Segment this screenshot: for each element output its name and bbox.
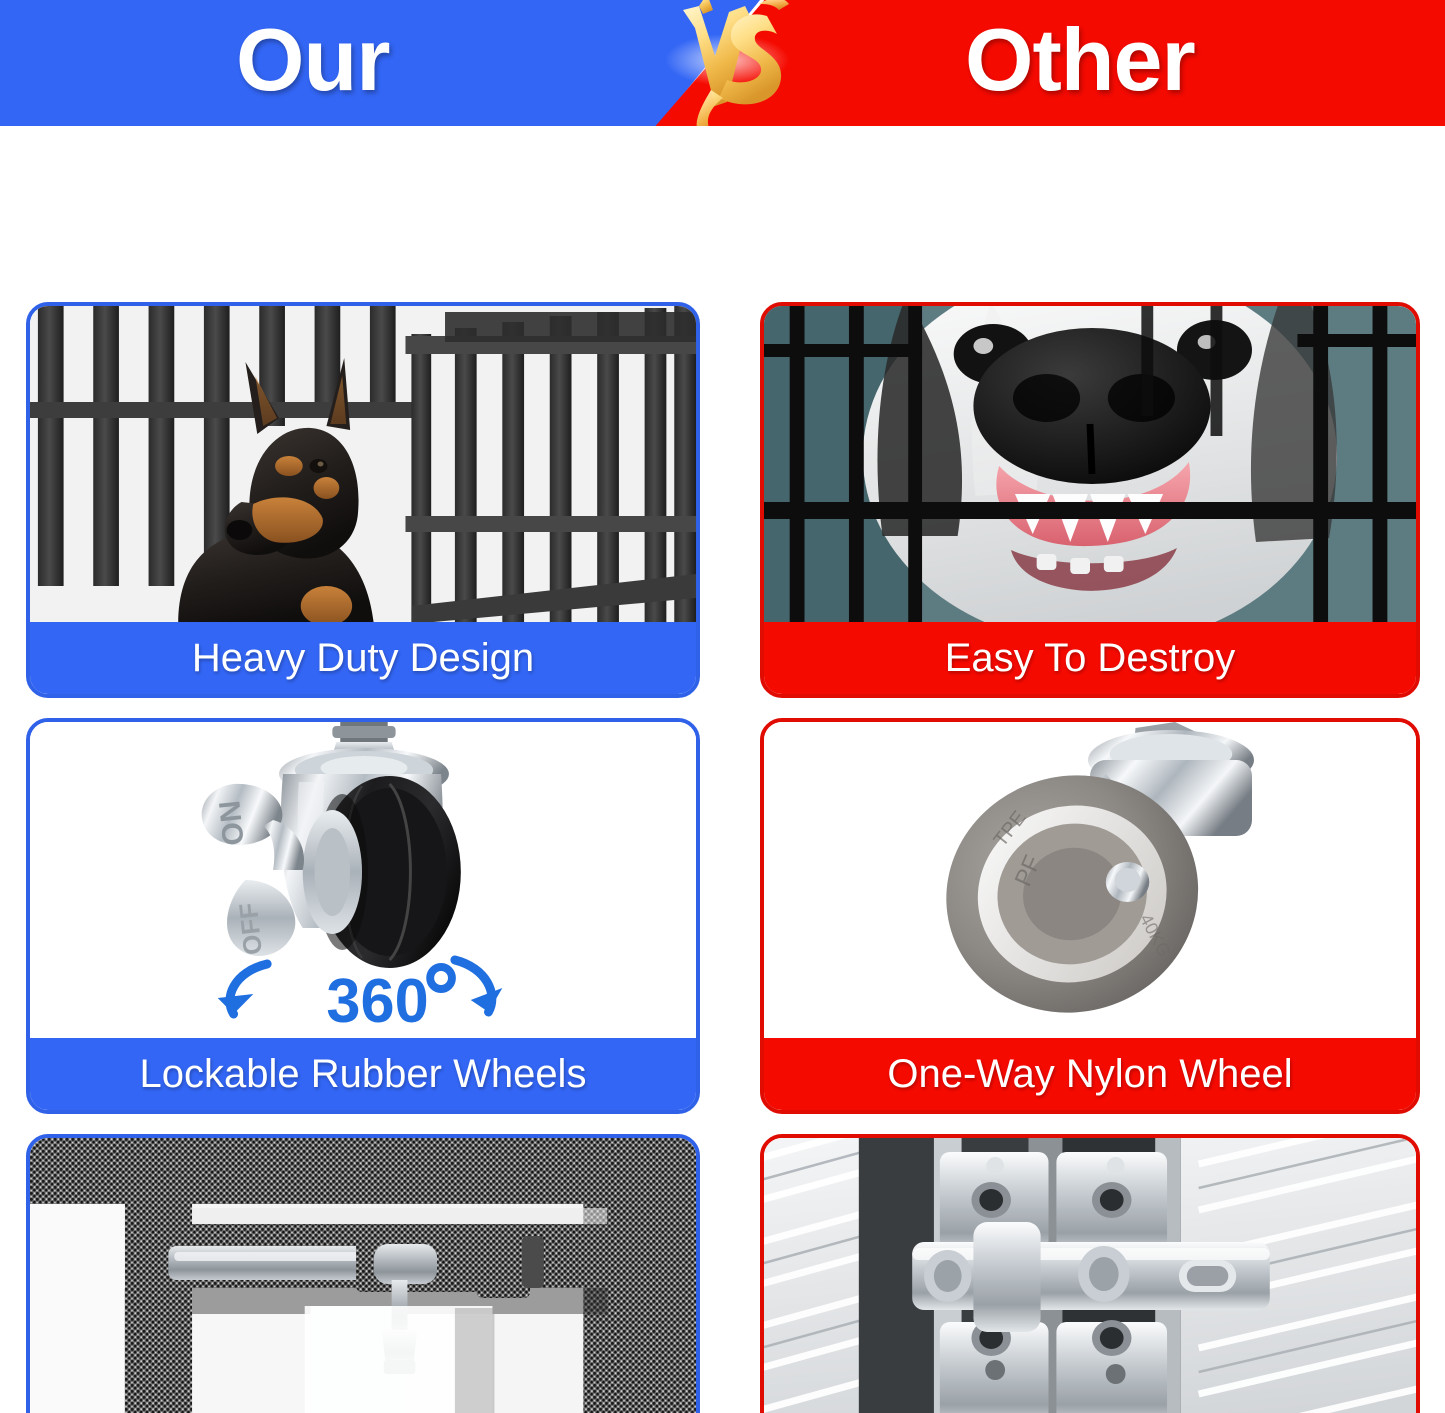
panel-caption-heavy-duty-design: Heavy Duty Design xyxy=(30,622,696,694)
panel-other-nylon-wheel[interactable]: TPE PF 40KG One-Way Nylon Wheel xyxy=(760,718,1420,1114)
panel-other-easy-to-destroy[interactable]: Easy To Destroy xyxy=(760,302,1420,698)
panel-image-easy-to-destroy xyxy=(764,306,1416,624)
panel-image-anti-collision-lock xyxy=(30,1138,696,1413)
vs-flame-icon xyxy=(655,0,805,126)
panel-caption-lockable-rubber-wheels: Lockable Rubber Wheels xyxy=(30,1038,696,1110)
header-title-other: Other xyxy=(965,8,1195,118)
header-title-ours: Our xyxy=(236,8,389,118)
panel-image-heavy-duty-design xyxy=(30,306,696,624)
panel-image-thin-easy-to-damage xyxy=(764,1138,1416,1413)
panel-ours-anti-collision-lock[interactable]: Stainless Steel Anti-Collision Lock xyxy=(26,1134,700,1413)
comparison-grid: Heavy Duty Design xyxy=(0,126,1445,1413)
panel-caption-one-way-nylon-wheel: One-Way Nylon Wheel xyxy=(764,1038,1416,1110)
panel-ours-lockable-wheels[interactable]: ON OFF 360 xyxy=(26,718,700,1114)
svg-text:ON: ON xyxy=(213,799,250,847)
panel-image-one-way-nylon-wheel: TPE PF 40KG xyxy=(764,722,1416,1040)
panel-caption-easy-to-destroy: Easy To Destroy xyxy=(764,622,1416,694)
svg-text:OFF: OFF xyxy=(235,902,268,957)
panel-ours-heavy-duty[interactable]: Heavy Duty Design xyxy=(26,302,700,698)
comparison-header: Our Other xyxy=(0,0,1445,126)
panel-image-lockable-rubber-wheels: ON OFF 360 xyxy=(30,722,696,1040)
panel-other-thin-latch[interactable]: Thin And Easy To Damage xyxy=(760,1134,1420,1413)
svg-text:360: 360 xyxy=(326,967,428,1036)
